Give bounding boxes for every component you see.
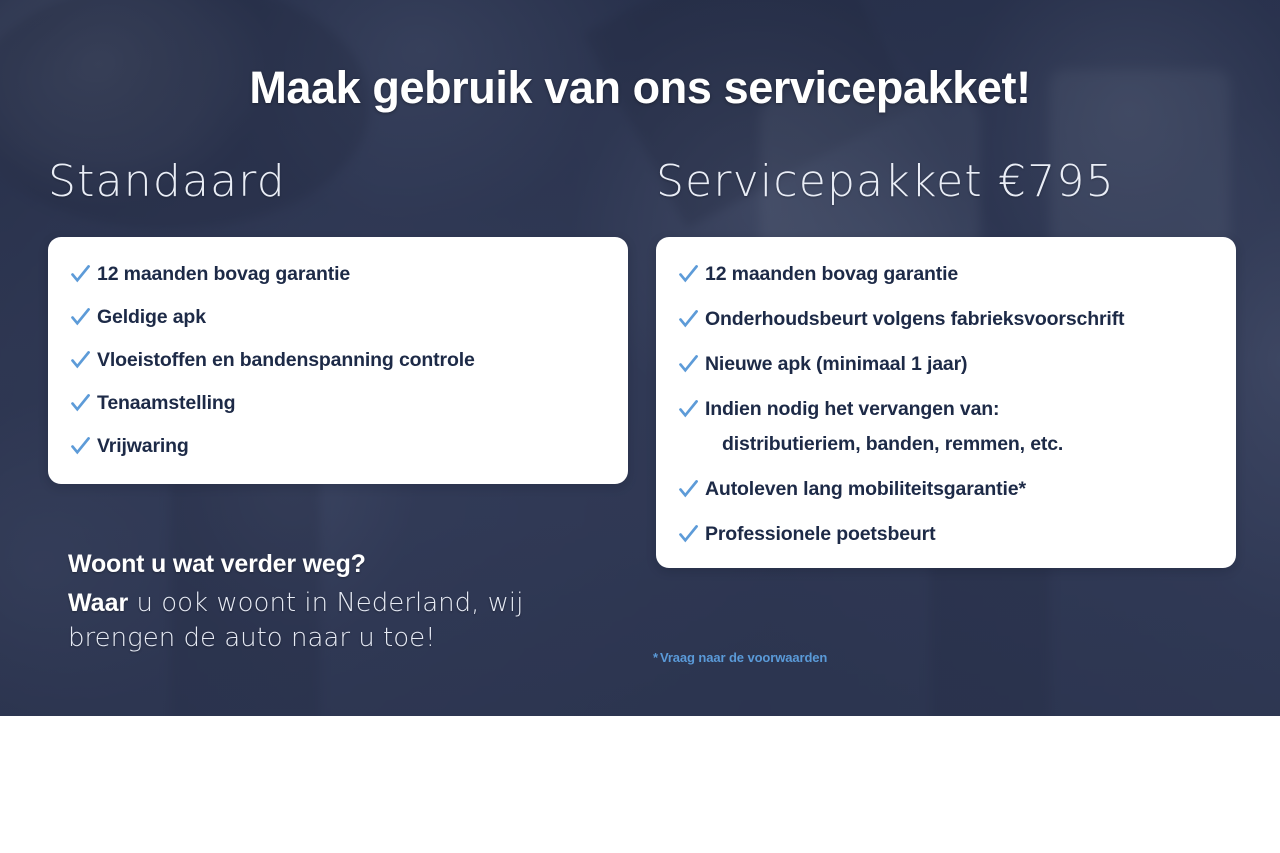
- service-package-heading: Servicepakket €795: [656, 160, 1241, 204]
- check-icon: [678, 354, 699, 375]
- list-item: 12 maanden bovag garantie: [70, 263, 604, 286]
- check-icon: [678, 309, 699, 330]
- list-item-label: Tenaamstelling: [97, 392, 235, 415]
- check-icon: [678, 524, 699, 545]
- list-item: Nieuwe apk (minimaal 1 jaar): [678, 353, 1212, 376]
- standard-feature-list: 12 maanden bovag garantie Geldige apk: [70, 263, 604, 458]
- list-item-label: 12 maanden bovag garantie: [97, 263, 350, 286]
- check-icon: [678, 399, 699, 420]
- conditions-footnote-label: Vraag naar de voorwaarden: [660, 650, 827, 665]
- check-icon: [70, 307, 91, 328]
- list-item-sublabel: distributieriem, banden, remmen, etc.: [705, 433, 1063, 456]
- check-icon: [70, 264, 91, 285]
- list-item-label: Vrijwaring: [97, 435, 189, 458]
- asterisk-marker: *: [653, 650, 658, 665]
- delivery-promo-answer: Waar u ook woont in Nederland, wij breng…: [68, 586, 628, 655]
- list-item-label: Nieuwe apk (minimaal 1 jaar): [705, 353, 967, 376]
- list-item: Vrijwaring: [70, 435, 604, 458]
- list-item: Onderhoudsbeurt volgens fabrieksvoorschr…: [678, 308, 1212, 331]
- service-package-column: Servicepakket €795 12 maanden bovag gara…: [656, 160, 1241, 568]
- check-icon: [678, 479, 699, 500]
- service-package-poster: Maak gebruik van ons servicepakket! Stan…: [0, 0, 1280, 853]
- standard-package-column: Standaard 12 maanden bovag garantie: [48, 160, 648, 568]
- standard-package-card: 12 maanden bovag garantie Geldige apk: [48, 237, 628, 484]
- list-item-label: 12 maanden bovag garantie: [705, 263, 958, 286]
- list-item-label: Autoleven lang mobiliteitsgarantie*: [705, 478, 1026, 501]
- delivery-promo-answer-bold: Waar: [68, 589, 128, 617]
- list-item: Professionele poetsbeurt: [678, 523, 1212, 546]
- delivery-promo-question: Woont u wat verder weg?: [68, 550, 628, 579]
- list-item-label: Geldige apk: [97, 306, 206, 329]
- list-item: Tenaamstelling: [70, 392, 604, 415]
- delivery-promo-answer-rest: u ook woont in Nederland, wij brengen de…: [68, 588, 523, 653]
- service-feature-list: 12 maanden bovag garantie Onderhoudsbeur…: [678, 263, 1212, 546]
- packages-columns: Standaard 12 maanden bovag garantie: [0, 160, 1280, 568]
- list-item-label: Professionele poetsbeurt: [705, 523, 935, 546]
- list-item-label: Onderhoudsbeurt volgens fabrieksvoorschr…: [705, 308, 1124, 331]
- list-item: Vloeistoffen en bandenspanning controle: [70, 349, 604, 372]
- check-icon: [70, 393, 91, 414]
- page-title: Maak gebruik van ons servicepakket!: [0, 62, 1280, 114]
- conditions-footnote: *Vraag naar de voorwaarden: [653, 650, 827, 665]
- list-item: Autoleven lang mobiliteitsgarantie*: [678, 478, 1212, 501]
- check-icon: [70, 436, 91, 457]
- standard-package-heading: Standaard: [48, 160, 648, 204]
- list-item: Geldige apk: [70, 306, 604, 329]
- check-icon: [678, 264, 699, 285]
- list-item: Indien nodig het vervangen van: distribu…: [678, 398, 1212, 456]
- list-item-label: Vloeistoffen en bandenspanning controle: [97, 349, 475, 372]
- list-item: 12 maanden bovag garantie: [678, 263, 1212, 286]
- service-package-card: 12 maanden bovag garantie Onderhoudsbeur…: [656, 237, 1236, 568]
- footer-bar: Meer informatie: wijnne.nl AUTOBEDRIJF W…: [0, 716, 1280, 853]
- check-icon: [70, 350, 91, 371]
- delivery-promo: Woont u wat verder weg? Waar u ook woont…: [68, 550, 628, 655]
- list-item-label: Indien nodig het vervangen van:: [705, 398, 1063, 421]
